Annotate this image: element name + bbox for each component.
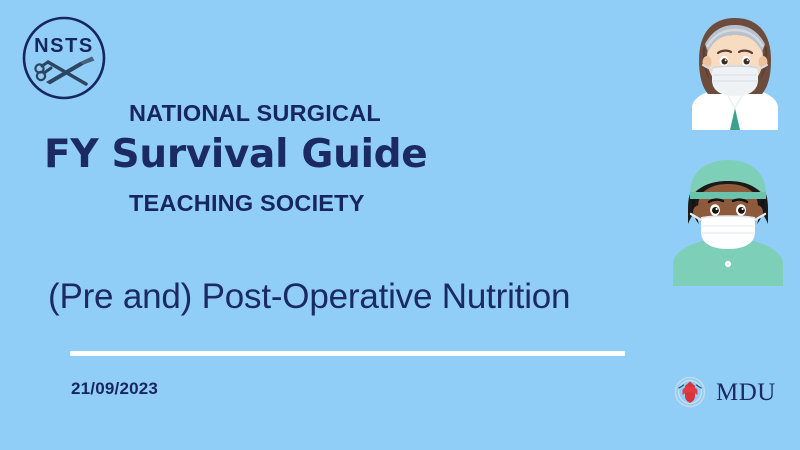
slide-date: 21/09/2023 <box>71 379 158 399</box>
divider-line <box>70 351 625 356</box>
nsts-logo-svg: NSTS <box>18 12 110 104</box>
logo-monogram: NSTS <box>34 35 94 57</box>
scalpel-icon <box>46 57 95 85</box>
nsts-logo: NSTS <box>18 12 110 104</box>
mdu-shield-icon <box>671 374 709 410</box>
surgeon-avatar <box>657 148 799 286</box>
slide-subtitle: (Pre and) Post-Operative Nutrition <box>48 275 570 319</box>
nurse-avatar-svg <box>672 4 798 130</box>
mdu-wordmark: MDU <box>716 380 776 405</box>
organisation-name-line-2: TEACHING SOCIETY <box>129 188 381 218</box>
presentation-slide: NSTS NATIONAL SURGICAL TEACHING SOCIETY … <box>0 0 800 450</box>
surgeon-avatar-svg <box>657 148 799 286</box>
slide-title: FY Survival Guide <box>44 131 427 179</box>
mdu-logo: MDU <box>671 374 776 410</box>
nurse-avatar <box>672 4 798 130</box>
organisation-name-line-1: NATIONAL SURGICAL <box>129 98 381 128</box>
